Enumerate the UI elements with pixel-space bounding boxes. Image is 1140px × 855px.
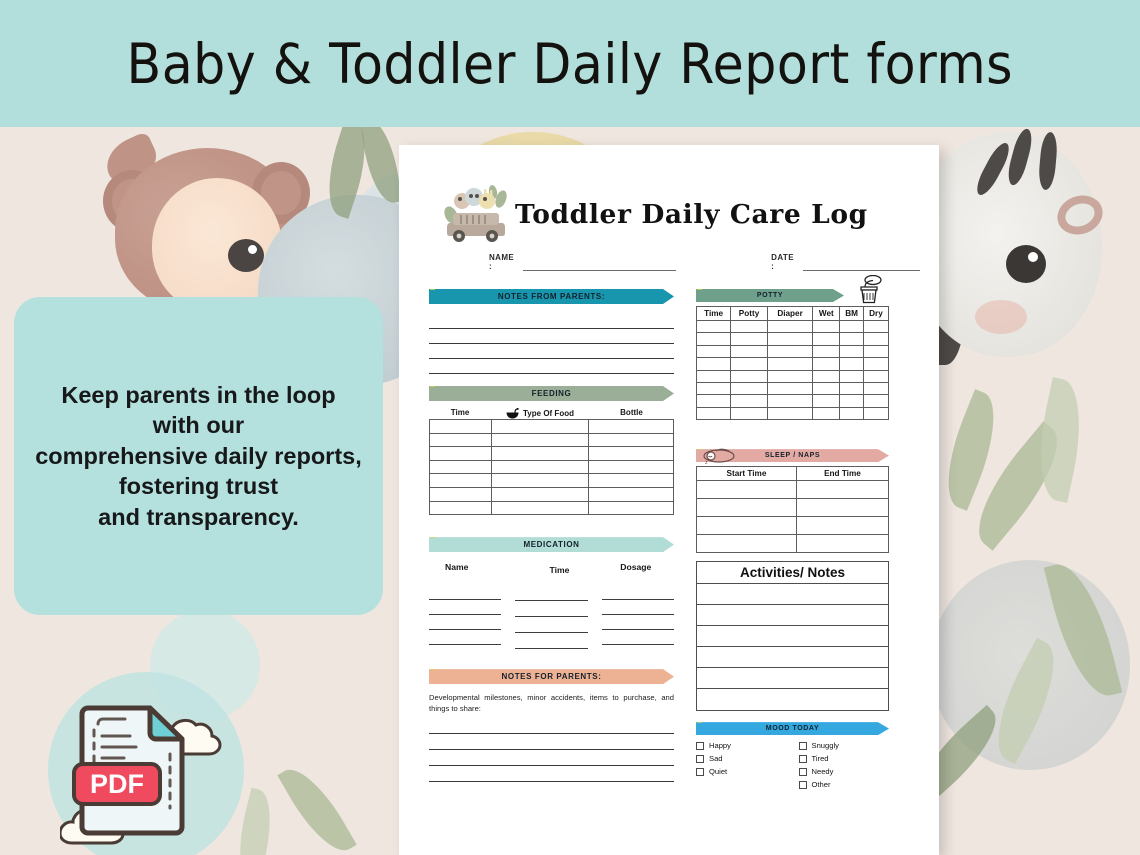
promo-card: Keep parents in the loop with our compre… — [14, 297, 383, 615]
potty-col-potty: Potty — [731, 307, 768, 321]
banner-title: Baby & Toddler Daily Report forms — [127, 32, 1013, 96]
cell[interactable] — [840, 358, 864, 370]
table-row[interactable] — [697, 321, 889, 333]
write-line[interactable] — [602, 630, 674, 645]
cell[interactable] — [697, 407, 731, 419]
promo-text: Keep parents in the loop with our compre… — [35, 380, 362, 533]
cell[interactable] — [731, 358, 768, 370]
cell-bottle[interactable] — [589, 433, 674, 447]
table-row[interactable] — [697, 395, 889, 407]
cell-bottle[interactable] — [589, 460, 674, 474]
cell[interactable] — [863, 321, 888, 333]
cell-end[interactable] — [796, 535, 888, 553]
medication-dosage-column[interactable] — [602, 585, 674, 649]
cell-start[interactable] — [697, 517, 797, 535]
mood-option-happy[interactable]: Happy — [696, 741, 787, 750]
cell[interactable] — [863, 358, 888, 370]
checkbox[interactable] — [696, 768, 704, 776]
cell[interactable] — [767, 370, 812, 382]
table-row[interactable] — [430, 501, 674, 515]
zebra-eye-icon — [1006, 245, 1046, 283]
write-line[interactable] — [429, 766, 674, 782]
cell[interactable] — [840, 395, 864, 407]
notes-for-parents-label: NOTES FOR PARENTS: — [502, 672, 602, 681]
cell-time[interactable] — [430, 474, 492, 488]
cell[interactable] — [697, 395, 731, 407]
medication-label: MEDICATION — [523, 540, 579, 549]
cell[interactable] — [767, 382, 812, 394]
pdf-document-icon: PDF — [60, 690, 245, 850]
table-header-row: Start Time End Time — [697, 467, 889, 481]
potty-col-bm: BM — [840, 307, 864, 321]
name-field-label: NAME : — [489, 253, 519, 271]
potty-table-head: Time Potty Diaper Wet BM Dry — [697, 307, 889, 321]
write-line[interactable] — [515, 601, 587, 617]
table-row[interactable] — [697, 535, 889, 553]
sleep-table[interactable]: Start Time End Time — [696, 466, 889, 553]
cell[interactable] — [840, 407, 864, 419]
cell[interactable] — [697, 382, 731, 394]
svg-text:z: z — [705, 460, 708, 465]
mood-option-label: Quiet — [709, 767, 727, 776]
cell-bottle[interactable] — [589, 447, 674, 461]
date-field-rule[interactable] — [803, 261, 920, 271]
checkbox[interactable] — [799, 768, 807, 776]
cell-bottle[interactable] — [589, 501, 674, 515]
form-header: Toddler Daily Care Log — [443, 185, 909, 243]
potty-table[interactable]: Time Potty Diaper Wet BM Dry — [696, 306, 889, 420]
medication-time-column[interactable] — [515, 585, 587, 649]
name-field[interactable]: NAME : — [489, 253, 676, 271]
promo-line: and transparency. — [35, 502, 362, 533]
cell[interactable] — [863, 345, 888, 357]
activities-row[interactable] — [697, 689, 888, 710]
form-left-column: NOTES FROM PARENTS: FEEDING Time — [429, 289, 674, 793]
medication-banner: MEDICATION — [429, 537, 674, 552]
mood-option-label: Tired — [812, 754, 829, 763]
activities-row[interactable] — [697, 668, 888, 689]
promo-line: with our — [35, 410, 362, 441]
food-bowl-icon — [506, 408, 519, 419]
mood-option-snuggly[interactable]: Snuggly — [799, 741, 890, 750]
mood-option-label: Needy — [812, 767, 834, 776]
write-line[interactable] — [429, 734, 674, 750]
ribbon-tab-decoration — [430, 666, 435, 670]
ribbon-tab-decoration — [430, 286, 435, 290]
medication-col-time: Time — [521, 562, 597, 575]
cell-time[interactable] — [430, 433, 492, 447]
table-row[interactable] — [430, 487, 674, 501]
promo-line: comprehensive daily reports, — [35, 441, 362, 472]
checkbox[interactable] — [799, 742, 807, 750]
mood-options: Happy Sad Quiet — [696, 741, 889, 793]
ribbon-tab-decoration — [697, 719, 702, 723]
cell-start[interactable] — [697, 481, 797, 499]
medication-col-dosage: Dosage — [598, 562, 674, 575]
animals-in-car-icon — [443, 185, 509, 243]
screenshot-stage: Baby & Toddler Daily Report forms Keep p… — [0, 0, 1140, 855]
checkbox[interactable] — [696, 755, 704, 763]
table-row[interactable] — [430, 460, 674, 474]
table-row[interactable] — [697, 407, 889, 419]
write-line[interactable] — [602, 615, 674, 630]
cell-end[interactable] — [796, 499, 888, 517]
table-row[interactable] — [697, 382, 889, 394]
mood-option-label: Other — [812, 780, 831, 789]
cell[interactable] — [697, 370, 731, 382]
activities-row[interactable] — [697, 584, 888, 605]
cell[interactable] — [813, 382, 840, 394]
monkey-eye-icon — [228, 239, 264, 272]
cell[interactable] — [697, 358, 731, 370]
cell[interactable] — [731, 395, 768, 407]
cell[interactable] — [731, 407, 768, 419]
mood-option-tired[interactable]: Tired — [799, 754, 890, 763]
feeding-col-bottle: Bottle — [589, 408, 674, 419]
cell[interactable] — [731, 382, 768, 394]
table-row[interactable] — [697, 499, 889, 517]
zebra-nose-icon — [975, 300, 1027, 334]
checkbox[interactable] — [696, 742, 704, 750]
notes-from-parents-banner: NOTES FROM PARENTS: — [429, 289, 674, 304]
cell-end[interactable] — [796, 481, 888, 499]
notes-from-parents-label: NOTES FROM PARENTS: — [498, 292, 605, 301]
date-field[interactable]: DATE : — [771, 253, 920, 271]
cell[interactable] — [767, 358, 812, 370]
cell[interactable] — [840, 370, 864, 382]
write-line[interactable] — [429, 600, 501, 615]
cell[interactable] — [813, 358, 840, 370]
activities-row[interactable] — [697, 626, 888, 647]
write-line[interactable] — [602, 585, 674, 600]
write-line[interactable] — [429, 718, 674, 734]
cell-food[interactable] — [492, 501, 589, 515]
checkbox[interactable] — [799, 781, 807, 789]
mood-option-quiet[interactable]: Quiet — [696, 767, 787, 776]
activities-notes-box[interactable]: Activities/ Notes — [696, 561, 889, 711]
table-row[interactable] — [430, 420, 674, 434]
cell-start[interactable] — [697, 499, 797, 517]
mood-option-other[interactable]: Other — [799, 780, 890, 789]
mood-option-label: Snuggly — [812, 741, 839, 750]
header-banner: Baby & Toddler Daily Report forms — [0, 0, 1140, 127]
write-line[interactable] — [429, 329, 674, 344]
medication-lines[interactable] — [429, 585, 674, 649]
pdf-badge-label: PDF — [90, 769, 144, 799]
form-columns: NOTES FROM PARENTS: FEEDING Time — [429, 289, 909, 793]
cell-time[interactable] — [430, 460, 492, 474]
mood-column-right: Snuggly Tired Needy — [799, 741, 890, 793]
mood-today-section: MOOD TODAY Happy Sad — [696, 722, 889, 793]
mood-banner: MOOD TODAY — [696, 722, 889, 735]
cell[interactable] — [813, 333, 840, 345]
write-line[interactable] — [515, 633, 587, 649]
feeding-table-body — [430, 420, 674, 515]
cell[interactable] — [767, 333, 812, 345]
cell[interactable] — [863, 370, 888, 382]
potty-banner: POTTY — [696, 289, 844, 302]
checkbox[interactable] — [799, 755, 807, 763]
activities-notes-title: Activities/ Notes — [697, 562, 888, 584]
notes-for-parents-banner: NOTES FOR PARENTS: — [429, 669, 674, 684]
table-row[interactable] — [697, 370, 889, 382]
promo-line: fostering trust — [35, 471, 362, 502]
cell[interactable] — [731, 333, 768, 345]
mood-option-needy[interactable]: Needy — [799, 767, 890, 776]
table-row[interactable] — [697, 333, 889, 345]
cell[interactable] — [767, 407, 812, 419]
sleeping-baby-icon: z — [702, 445, 736, 465]
potty-col-diaper: Diaper — [767, 307, 812, 321]
potty-chair-icon — [855, 275, 883, 305]
cell-time[interactable] — [430, 501, 492, 515]
write-line[interactable] — [429, 750, 674, 766]
cell[interactable] — [767, 321, 812, 333]
cell-food[interactable] — [492, 433, 589, 447]
promo-line: Keep parents in the loop — [35, 380, 362, 411]
cell[interactable] — [697, 345, 731, 357]
feeding-column-headers: Time Type Of Food Bottle — [429, 408, 674, 419]
form-right-column: POTTY Time Potty D — [696, 289, 889, 793]
name-field-rule[interactable] — [523, 261, 676, 271]
cell[interactable] — [697, 333, 731, 345]
cell[interactable] — [813, 407, 840, 419]
write-line[interactable] — [429, 585, 501, 600]
mood-label: MOOD TODAY — [766, 725, 819, 732]
ribbon-tab-decoration — [697, 286, 702, 290]
leaf-decoration — [277, 758, 356, 855]
cell-food[interactable] — [492, 420, 589, 434]
cell[interactable] — [840, 345, 864, 357]
mood-option-label: Sad — [709, 754, 723, 763]
write-line[interactable] — [429, 344, 674, 359]
mood-column-left: Happy Sad Quiet — [696, 741, 787, 793]
cell-food[interactable] — [492, 447, 589, 461]
write-line[interactable] — [429, 359, 674, 374]
feeding-banner: FEEDING — [429, 386, 674, 401]
cell[interactable] — [813, 395, 840, 407]
cell[interactable] — [863, 333, 888, 345]
feeding-label: FEEDING — [532, 389, 572, 398]
date-field-label: DATE : — [771, 253, 798, 271]
mood-option-sad[interactable]: Sad — [696, 754, 787, 763]
medication-name-column[interactable] — [429, 585, 501, 649]
potty-col-dry: Dry — [863, 307, 888, 321]
cell[interactable] — [840, 333, 864, 345]
cell-time[interactable] — [430, 487, 492, 501]
potty-col-wet: Wet — [813, 307, 840, 321]
potty-label: POTTY — [757, 292, 783, 299]
write-line[interactable] — [429, 615, 501, 630]
cell-bottle[interactable] — [589, 474, 674, 488]
feeding-table[interactable] — [429, 419, 674, 515]
sleep-col-start: Start Time — [697, 467, 797, 481]
table-row[interactable] — [430, 474, 674, 488]
medication-column-headers: Name Time Dosage — [429, 562, 674, 575]
cell-start[interactable] — [697, 535, 797, 553]
sleep-col-end: End Time — [796, 467, 888, 481]
cell[interactable] — [731, 345, 768, 357]
cell-bottle[interactable] — [589, 420, 674, 434]
sleep-table-body — [697, 481, 889, 553]
cell[interactable] — [767, 345, 812, 357]
table-row[interactable] — [697, 517, 889, 535]
feeding-col-time: Time — [429, 408, 491, 419]
cell-end[interactable] — [796, 517, 888, 535]
notes-from-parents-lines[interactable] — [429, 314, 674, 374]
activities-row[interactable] — [697, 647, 888, 668]
feeding-col-food-label: Type Of Food — [523, 409, 574, 418]
sleep-table-head: Start Time End Time — [697, 467, 889, 481]
cell[interactable] — [863, 407, 888, 419]
cell-food[interactable] — [492, 474, 589, 488]
cell-food[interactable] — [492, 460, 589, 474]
write-line[interactable] — [602, 600, 674, 615]
cell[interactable] — [840, 382, 864, 394]
table-row[interactable] — [697, 481, 889, 499]
cell-time[interactable] — [430, 447, 492, 461]
notes-for-parents-lines[interactable] — [429, 718, 674, 782]
mood-option-label: Happy — [709, 741, 731, 750]
activities-row[interactable] — [697, 605, 888, 626]
cell[interactable] — [863, 395, 888, 407]
cell-food[interactable] — [492, 487, 589, 501]
write-line[interactable] — [429, 314, 674, 329]
cell[interactable] — [863, 382, 888, 394]
cell[interactable] — [840, 321, 864, 333]
cell[interactable] — [731, 370, 768, 382]
notes-for-parents-subtitle: Developmental milestones, minor accident… — [429, 692, 674, 714]
cell[interactable] — [697, 321, 731, 333]
ribbon-tab-decoration — [430, 383, 435, 387]
cell[interactable] — [813, 321, 840, 333]
pdf-file-badge: PDF PDF — [60, 690, 245, 850]
medication-col-name: Name — [429, 562, 521, 575]
write-line[interactable] — [515, 585, 587, 601]
cell[interactable] — [731, 321, 768, 333]
write-line[interactable] — [515, 617, 587, 633]
identity-fields: NAME : DATE : — [429, 253, 909, 271]
cell-time[interactable] — [430, 420, 492, 434]
table-row[interactable] — [430, 433, 674, 447]
write-line[interactable] — [429, 630, 501, 645]
table-header-row: Time Potty Diaper Wet BM Dry — [697, 307, 889, 321]
cell[interactable] — [813, 345, 840, 357]
table-row[interactable] — [697, 345, 889, 357]
ribbon-tab-decoration — [430, 534, 435, 538]
table-row[interactable] — [430, 447, 674, 461]
potty-col-time: Time — [697, 307, 731, 321]
table-row[interactable] — [697, 358, 889, 370]
cell[interactable] — [813, 370, 840, 382]
sleep-label: SLEEP / NAPS — [765, 452, 820, 459]
potty-table-body — [697, 321, 889, 420]
cell-bottle[interactable] — [589, 487, 674, 501]
feeding-col-food: Type Of Food — [491, 408, 589, 419]
form-page: Toddler Daily Care Log NAME : DATE : NOT… — [399, 145, 939, 855]
form-title: Toddler Daily Care Log — [515, 199, 868, 230]
cell[interactable] — [767, 395, 812, 407]
